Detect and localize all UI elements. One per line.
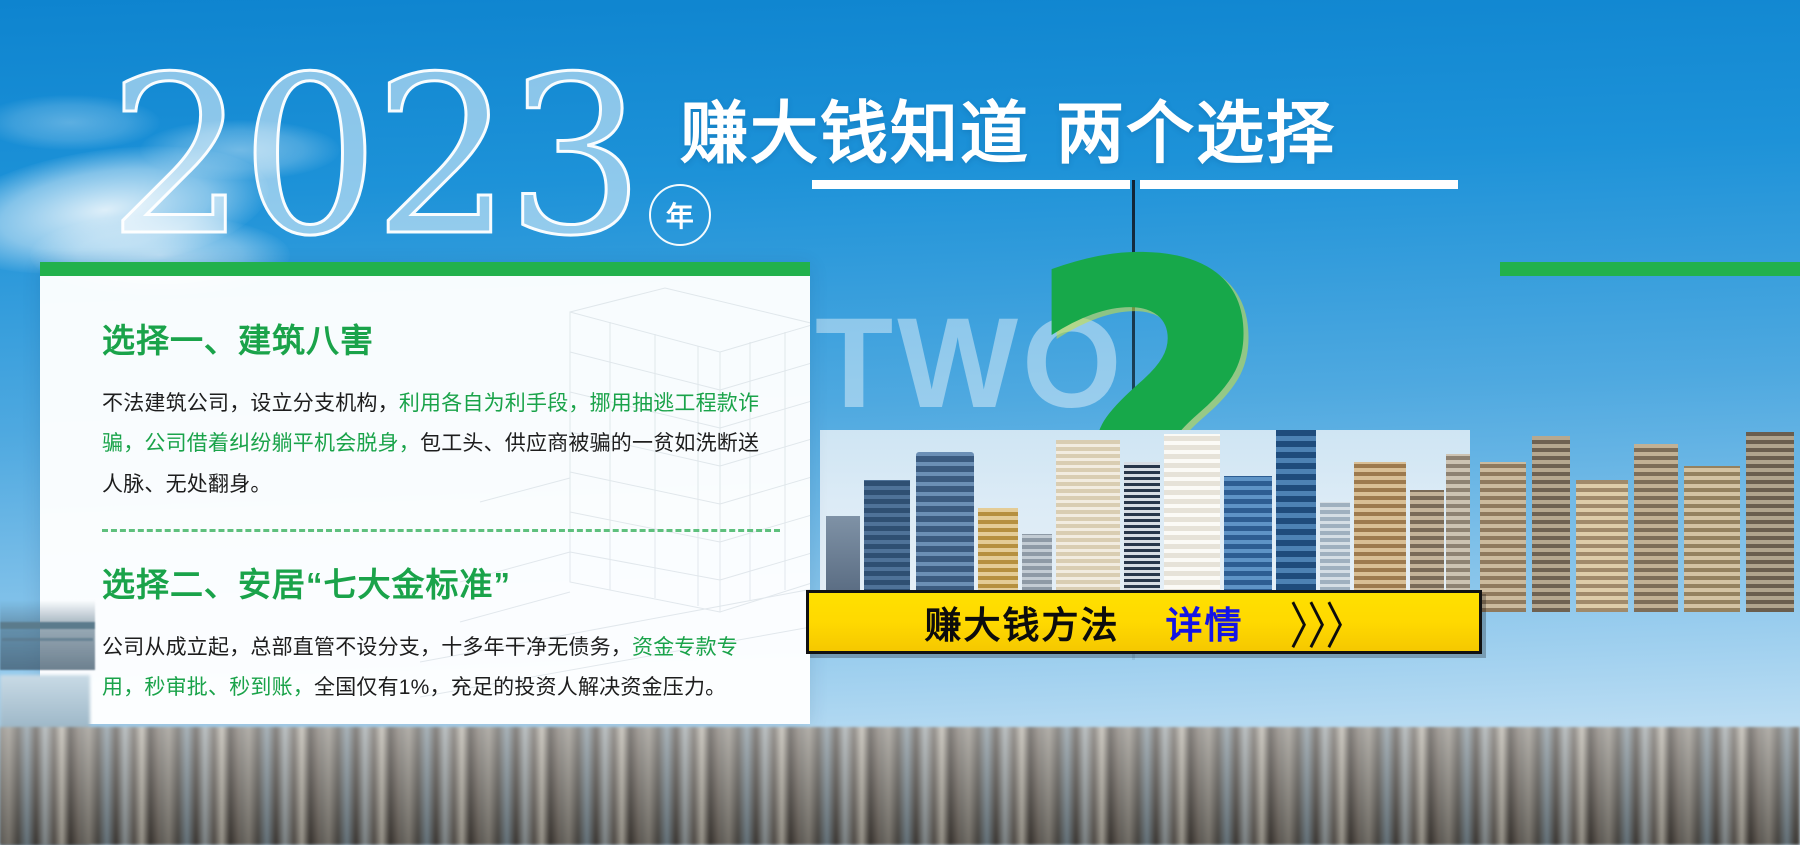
headline-part-2: 两个选择 xyxy=(1056,96,1336,172)
content-card: 选择一、建筑八害 不法建筑公司，设立分支机构，利用各自为利手段，挪用抽逃工程款诈… xyxy=(40,262,810,724)
chevron-right-icon: 〉〉〉 xyxy=(1290,586,1364,659)
cta-main-label: 赚大钱方法 xyxy=(925,595,1120,649)
bridge-photo xyxy=(0,600,95,670)
headline-part-1: 赚大钱知道 xyxy=(680,96,1030,172)
year-display: 2023 年 xyxy=(108,62,711,254)
body-run: 不法建筑公司，设立分支机构， xyxy=(102,392,399,415)
cta-link-label[interactable]: 详情 xyxy=(1166,595,1244,649)
bottom-photo-strip xyxy=(0,727,1800,845)
body-run: 公司从成立起，总部直管不设分支，十多年干净无债务， xyxy=(102,636,632,659)
section-title-1: 选择一、建筑八害 xyxy=(102,314,780,362)
card-top-accent xyxy=(40,262,810,276)
cloud-decoration xyxy=(140,120,340,180)
cta-button[interactable]: 赚大钱方法 详情 〉〉〉 xyxy=(806,590,1482,654)
cityscape-photo xyxy=(820,430,1470,612)
year-number: 2023 xyxy=(108,62,639,254)
section-title-2: 选择二、安居“七大金标准” xyxy=(102,558,780,606)
promo-banner: 2023 年 赚大钱知道两个选择 TWO CHOICES ? xyxy=(0,0,1800,845)
section-body-1: 不法建筑公司，设立分支机构，利用各自为利手段，挪用抽逃工程款诈骗，公司借着纠纷躺… xyxy=(102,384,780,505)
section-divider xyxy=(102,529,780,532)
section-body-2: 公司从成立起，总部直管不设分支，十多年干净无债务，资金专款专用，秒审批、秒到账，… xyxy=(102,628,780,709)
right-accent-bar xyxy=(1500,262,1800,276)
year-unit-badge: 年 xyxy=(649,184,711,246)
cityscape-photo-right xyxy=(1470,430,1800,612)
body-run: 全国仅有1%，充足的投资人解决资金压力。 xyxy=(314,676,726,699)
cloud-decoration xyxy=(0,95,160,150)
card-content: 选择一、建筑八害 不法建筑公司，设立分支机构，利用各自为利手段，挪用抽逃工程款诈… xyxy=(102,314,780,709)
page-title: 赚大钱知道两个选择 xyxy=(680,78,1336,177)
